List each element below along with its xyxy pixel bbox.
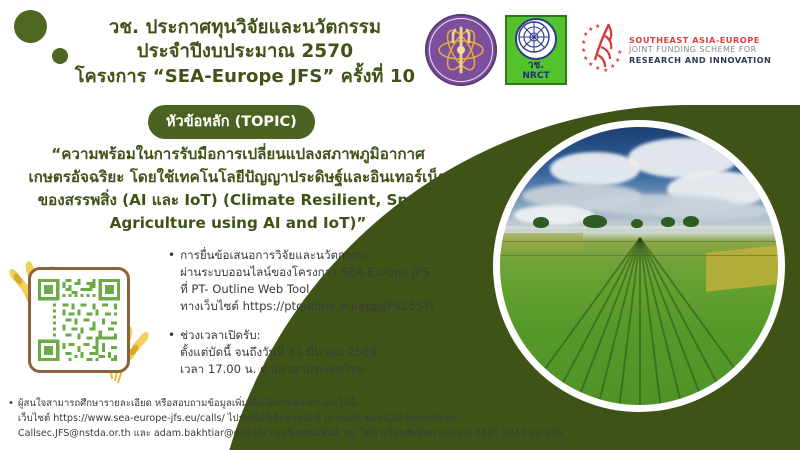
contact-footer-text: ผู้สนใจสามารถศึกษารายละเอียด หรือสอบถามข… <box>18 396 563 441</box>
svg-text:★: ★ <box>595 23 600 30</box>
topic-badge: หัวข้อหลัก (TOPIC) <box>148 105 315 139</box>
nrct-abbr-en: NRCT <box>522 72 549 82</box>
sea-europe-jfs-logo: ★★★ ★★★ ★★★ ★★★ SOUTHEAST ASIA-EUROPE JO… <box>579 20 771 80</box>
submission-channel-line-4[interactable]: ทางเว็บไซต์ https://ptoutline.eu/app/JFS… <box>180 298 434 315</box>
title-line-1: วช. ประกาศทุนวิจัยและนวัตกรรม <box>60 16 430 40</box>
svg-text:★: ★ <box>595 65 600 72</box>
sea-line-1: SOUTHEAST ASIA-EUROPE <box>629 35 771 45</box>
submission-period-line-2: ตั้งแต่บัดนี้ จนถึงวันที่ 31 มีนาคม 2569 <box>180 344 377 361</box>
nrct-abbr-th: วช. <box>528 61 544 71</box>
svg-text:★: ★ <box>603 67 608 74</box>
title-line-2: ประจำปีงบประมาณ 2570 <box>60 40 430 64</box>
title-line-3: โครงการ “SEA-Europe JFS” ครั้งที่ 10 <box>60 65 430 89</box>
topic-line-3: ของสรรพสิ่ง (AI และ IoT) (Climate Resili… <box>14 189 462 212</box>
list-item: • ช่วงเวลาเปิดรับ: ตั้งแต่บัดนี้ จนถึงวั… <box>168 327 468 378</box>
sea-line-3: RESEARCH AND INNOVATION <box>629 55 771 65</box>
svg-text:★: ★ <box>615 57 620 64</box>
contact-footer: • ผู้สนใจสามารถศึกษารายละเอียด หรือสอบถา… <box>8 396 568 441</box>
poster-canvas: วช. ประกาศทุนวิจัยและนวัตกรรม ประจำปีงบป… <box>0 0 800 450</box>
topic-line-4: Agriculture using AI and IoT)” <box>14 212 462 235</box>
poster-title: วช. ประกาศทุนวิจัยและนวัตกรรม ประจำปีงบป… <box>60 16 430 89</box>
submission-channel-line-2: ผ่านระบบออนไลน์ของโครงการ SEA-Europe JFS <box>180 264 434 281</box>
bullet-icon: • <box>168 327 175 378</box>
footer-line-2[interactable]: เว็บไซต์ https://www.sea-europe-jfs.eu/c… <box>18 411 563 426</box>
footer-line-1: ผู้สนใจสามารถศึกษารายละเอียด หรือสอบถามข… <box>18 396 563 411</box>
sea-europe-mark-icon: ★★★ ★★★ ★★★ ★★★ <box>579 20 625 80</box>
nstda-logo <box>425 14 497 86</box>
qr-code[interactable] <box>35 274 123 366</box>
submission-period-line-1: ช่วงเวลาเปิดรับ: <box>180 327 377 344</box>
submission-channel-line-1: การยื่นข้อเสนอการวิจัยและนวัตกรรม: <box>180 247 434 264</box>
list-item: • การยื่นข้อเสนอการวิจัยและนวัตกรรม: ผ่า… <box>168 247 468 316</box>
submission-period-line-3: เวลา 17.00 น. ตามเวลาประเทศไทย <box>180 361 377 378</box>
bullet-icon: • <box>8 396 14 441</box>
bullet-icon: • <box>168 247 175 316</box>
svg-text:★: ★ <box>588 26 593 33</box>
topic-line-1: “ความพร้อมในการรับมือการเปลี่ยนแปลงสภาพภ… <box>14 143 462 166</box>
topic-line-2: เกษตรอัจฉริยะ โดยใช้เทคโนโลยีปัญญาประดิษ… <box>14 166 462 189</box>
submission-period-text: ช่วงเวลาเปิดรับ: ตั้งแต่บัดนี้ จนถึงวันท… <box>180 327 377 378</box>
submission-channel-line-3: ที่ PT- Outline Web Tool <box>180 281 434 298</box>
topic-text: “ความพร้อมในการรับมือการเปลี่ยนแปลงสภาพภ… <box>14 143 462 235</box>
footer-line-3[interactable]: Callsec.JFS@nstda.or.th และ adam.bakhtia… <box>18 426 563 441</box>
svg-text:★: ★ <box>588 61 593 68</box>
nrct-logo: วช. NRCT <box>505 15 567 85</box>
svg-text:★: ★ <box>581 47 586 54</box>
submission-channel-text: การยื่นข้อเสนอการวิจัยและนวัตกรรม: ผ่านร… <box>180 247 434 316</box>
farmland-photo-image <box>500 127 778 405</box>
logo-row: วช. NRCT ★★★ ★★★ ★★★ ★★★ <box>425 14 771 86</box>
farmland-photo <box>493 120 785 412</box>
sea-europe-wordmark: SOUTHEAST ASIA-EUROPE JOINT FUNDING SCHE… <box>629 35 771 65</box>
svg-text:★: ★ <box>617 49 622 56</box>
nrct-wheel-icon <box>515 18 557 60</box>
qr-frame <box>28 267 130 373</box>
decorative-dot-large <box>14 10 47 43</box>
svg-text:★: ★ <box>581 39 586 46</box>
svg-text:★: ★ <box>610 63 615 70</box>
details-list: • การยื่นข้อเสนอการวิจัยและนวัตกรรม: ผ่า… <box>168 247 468 389</box>
qr-block <box>6 255 141 387</box>
atom-icon <box>425 14 497 86</box>
sea-line-2: JOINT FUNDING SCHEME FOR <box>629 45 771 55</box>
